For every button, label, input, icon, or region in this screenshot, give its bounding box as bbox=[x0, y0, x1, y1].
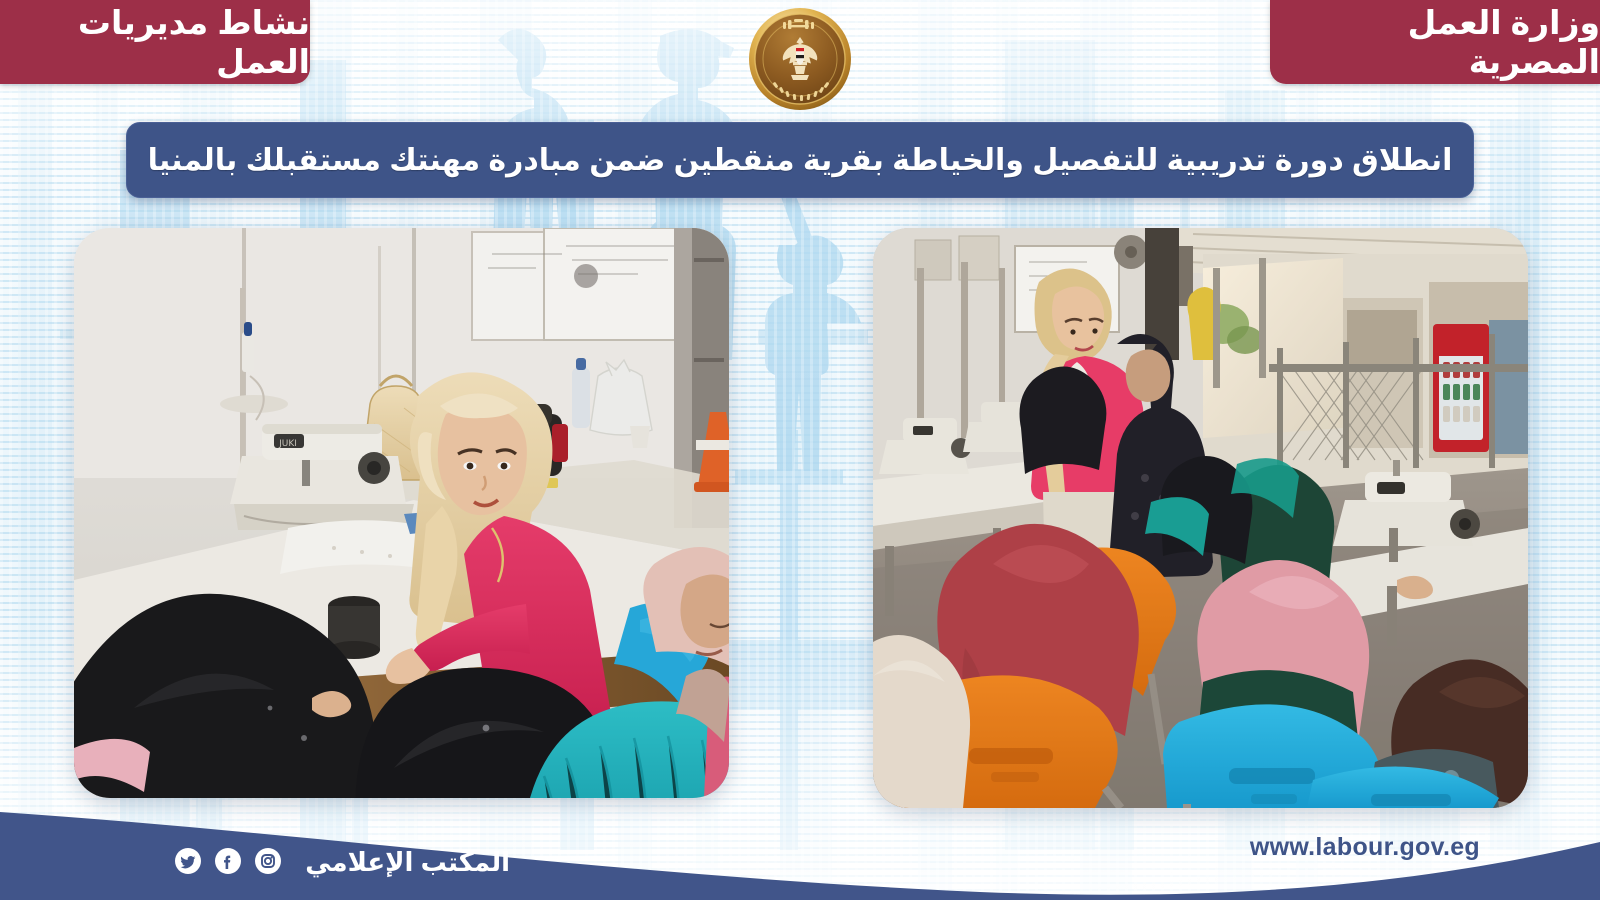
activity-badge: نشاط مديريات العمل bbox=[0, 0, 310, 84]
ministry-of-labour-seal-icon bbox=[747, 6, 853, 112]
headline-bar: انطلاق دورة تدريبية للتفصيل والخياطة بقر… bbox=[126, 122, 1474, 198]
ministry-badge-label: وزارة العمل المصرية bbox=[1270, 3, 1600, 81]
twitter-icon[interactable] bbox=[175, 848, 201, 874]
social-media-card: نشاط مديريات العمل وزارة العمل المصرية bbox=[0, 0, 1600, 900]
facebook-icon[interactable] bbox=[215, 848, 241, 874]
media-office-label: المكتب الإعلامي bbox=[305, 847, 510, 878]
website-url[interactable]: www.labour.gov.eg bbox=[1250, 833, 1480, 862]
footer-content: المكتب الإعلامي bbox=[0, 780, 1600, 900]
page-title: انطلاق دورة تدريبية للتفصيل والخياطة بقر… bbox=[148, 143, 1453, 178]
ministry-badge: وزارة العمل المصرية bbox=[1270, 0, 1600, 84]
photo-gallery: JUKI bbox=[0, 228, 1600, 808]
social-links bbox=[175, 848, 281, 874]
activity-badge-label: نشاط مديريات العمل bbox=[0, 3, 310, 81]
photo-left: JUKI bbox=[74, 228, 729, 798]
instagram-icon[interactable] bbox=[255, 848, 281, 874]
photo-right bbox=[873, 228, 1528, 808]
